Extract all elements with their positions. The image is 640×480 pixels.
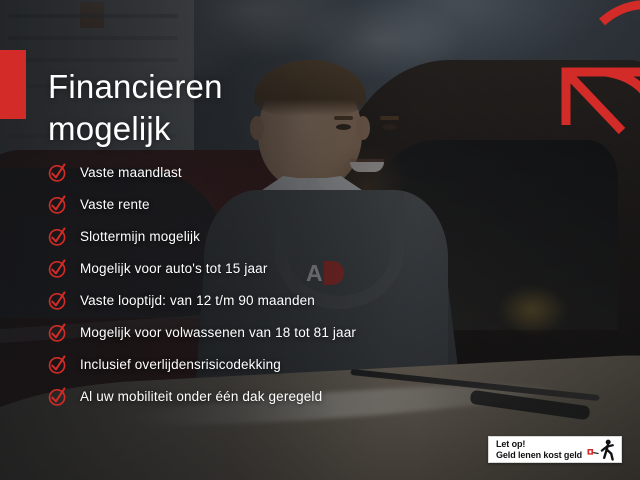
feature-label: Inclusief overlijdensrisicodekking [80,357,281,372]
feature-label: Al uw mobiliteit onder één dak geregeld [80,389,322,404]
afm-warning-text: Let op! Geld lenen kost geld [496,439,587,461]
promo-banner: A Financieren mogelijk Vaste maandlast [0,0,640,480]
check-circle-icon [47,194,68,215]
page-title: Financieren mogelijk [48,66,223,150]
feature-label: Vaste maandlast [80,165,182,180]
check-circle-icon [47,162,68,183]
walking-man-with-money-bag-icon [587,439,617,461]
feature-label: Mogelijk voor volwassenen van 18 tot 81 … [80,325,356,340]
check-circle-icon [47,258,68,279]
list-item: Mogelijk voor auto's tot 15 jaar [47,252,356,284]
red-arc-arrow-mark [544,0,640,140]
list-item: Vaste rente [47,188,356,220]
check-circle-icon [47,226,68,247]
feature-label: Vaste rente [80,197,150,212]
list-item: Inclusief overlijdensrisicodekking [47,348,356,380]
check-circle-icon [47,354,68,375]
list-item: Vaste maandlast [47,156,356,188]
check-circle-icon [47,290,68,311]
feature-label: Vaste looptijd: van 12 t/m 90 maanden [80,293,315,308]
list-item: Slottermijn mogelijk [47,220,356,252]
red-accent-block [0,50,26,119]
check-circle-icon [47,322,68,343]
list-item: Mogelijk voor volwassenen van 18 tot 81 … [47,316,356,348]
check-circle-icon [47,386,68,407]
feature-label: Slottermijn mogelijk [80,229,200,244]
list-item: Vaste looptijd: van 12 t/m 90 maanden [47,284,356,316]
list-item: Al uw mobiliteit onder één dak geregeld [47,380,356,412]
feature-label: Mogelijk voor auto's tot 15 jaar [80,261,267,276]
afm-warning-badge: Let op! Geld lenen kost geld [488,436,622,463]
feature-list: Vaste maandlast Vaste rente Slottermijn … [47,156,356,412]
